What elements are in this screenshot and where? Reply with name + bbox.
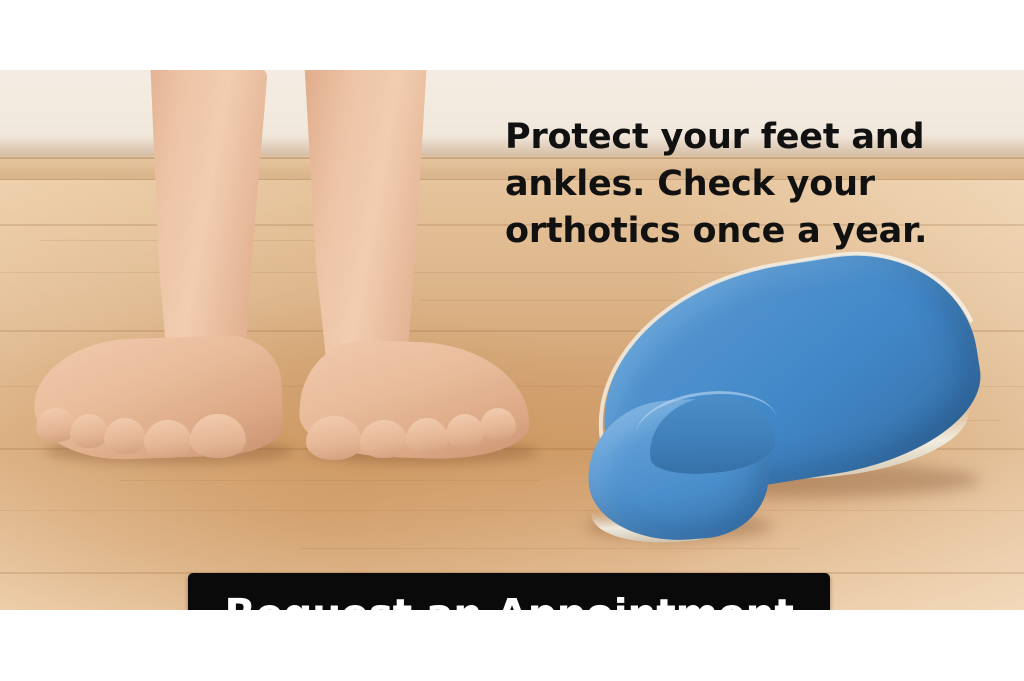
floor-grain [120,480,540,481]
left-foot-big-toe [190,414,246,458]
floor-grain [300,548,800,549]
right-foot-toe [446,414,484,448]
right-foot-big-toe [306,416,362,460]
right-foot-toe [360,420,408,458]
left-foot-toe [104,418,146,454]
request-appointment-button[interactable]: Request an Appointment [188,573,830,610]
left-foot-toe [70,414,108,448]
banner-photo: Protect your feet and ankles. Check your… [0,70,1024,610]
right-foot-toe [406,418,448,454]
banner-headline: Protect your feet and ankles. Check your… [505,114,965,255]
left-foot-toe [144,420,192,458]
banner-canvas: Protect your feet and ankles. Check your… [0,0,1024,681]
floor-plank-line [0,510,1024,511]
request-appointment-label: Request an Appointment [224,594,793,610]
right-foot-toe [480,408,516,440]
